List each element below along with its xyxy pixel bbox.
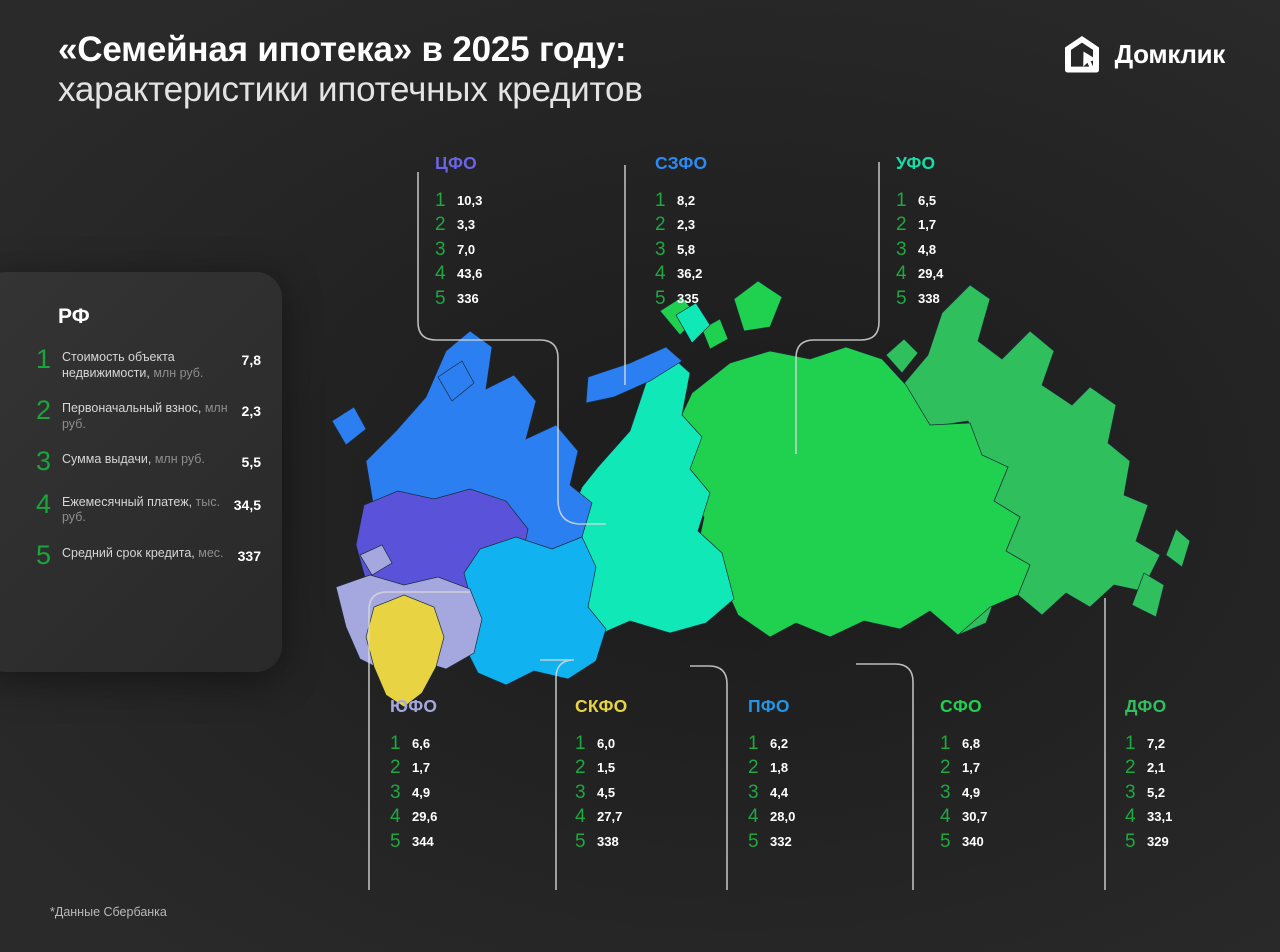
region-name-skfo: СКФО xyxy=(575,696,627,717)
region-metric-value: 29,4 xyxy=(918,266,943,281)
region-metric-value: 4,8 xyxy=(918,242,936,257)
region-metric-number: 2 xyxy=(1125,758,1147,777)
region-metric-number: 5 xyxy=(575,832,597,851)
region-value-row: 427,7 xyxy=(575,805,627,830)
rf-metric-unit: млн руб. xyxy=(153,366,203,380)
region-value-row: 17,2 xyxy=(1125,731,1172,756)
region-metric-value: 4,9 xyxy=(962,785,980,800)
rf-metric-number: 4 xyxy=(36,492,62,518)
region-metric-number: 4 xyxy=(435,264,457,283)
domclick-logo: Домклик xyxy=(1062,34,1225,74)
region-value-row: 35,2 xyxy=(1125,780,1172,805)
region-value-row: 110,3 xyxy=(435,188,482,213)
region-metric-number: 5 xyxy=(940,832,962,851)
region-metric-value: 2,3 xyxy=(677,217,695,232)
region-metric-number: 2 xyxy=(940,758,962,777)
region-value-row: 34,4 xyxy=(748,780,795,805)
region-metric-number: 3 xyxy=(896,240,918,259)
region-metric-value: 338 xyxy=(918,291,940,306)
region-metric-number: 1 xyxy=(575,734,597,753)
region-metric-value: 33,1 xyxy=(1147,809,1172,824)
region-name-pfo: ПФО xyxy=(748,696,795,717)
region-block-ufo: УФО 16,5 21,7 34,8 429,4 5338 xyxy=(896,153,943,311)
region-metric-number: 5 xyxy=(1125,832,1147,851)
region-value-row: 21,5 xyxy=(575,756,627,781)
rf-metric-row: 2 Первоначальный взнос, млн руб. 2,3 xyxy=(36,398,261,432)
region-name-szfo: СЗФО xyxy=(655,153,707,174)
region-metric-number: 3 xyxy=(390,783,412,802)
region-metric-number: 2 xyxy=(435,215,457,234)
region-metric-number: 4 xyxy=(896,264,918,283)
region-value-row: 16,5 xyxy=(896,188,943,213)
rf-metric-row: 1 Стоимость объекта недвижимости, млн ру… xyxy=(36,347,261,381)
russia-federal-districts-map xyxy=(330,255,1280,735)
region-metric-value: 27,7 xyxy=(597,809,622,824)
region-metric-value: 340 xyxy=(962,834,984,849)
region-metric-number: 3 xyxy=(655,240,677,259)
region-value-row: 16,6 xyxy=(390,731,437,756)
title-line-1: «Семейная ипотека» в 2025 году: xyxy=(58,30,878,69)
region-metric-number: 1 xyxy=(940,734,962,753)
region-metric-value: 6,5 xyxy=(918,193,936,208)
region-value-row: 22,3 xyxy=(655,213,707,238)
region-block-dfo: ДФО 17,2 22,1 35,2 433,1 5329 xyxy=(1125,696,1172,854)
region-name-yufo: ЮФО xyxy=(390,696,437,717)
region-value-row: 21,7 xyxy=(896,213,943,238)
region-metric-value: 6,2 xyxy=(770,736,788,751)
region-metric-number: 3 xyxy=(748,783,770,802)
region-metric-value: 30,7 xyxy=(962,809,987,824)
region-value-row: 21,7 xyxy=(940,756,987,781)
region-value-row: 16,2 xyxy=(748,731,795,756)
region-metric-number: 4 xyxy=(655,264,677,283)
region-metric-value: 335 xyxy=(677,291,699,306)
region-value-row: 16,8 xyxy=(940,731,987,756)
rf-metric-row: 3 Сумма выдачи, млн руб. 5,5 xyxy=(36,449,261,475)
region-value-row: 21,7 xyxy=(390,756,437,781)
region-value-row: 443,6 xyxy=(435,262,482,287)
region-metric-value: 29,6 xyxy=(412,809,437,824)
rf-metric-value: 2,3 xyxy=(242,401,261,419)
region-metric-number: 5 xyxy=(390,832,412,851)
region-metric-number: 1 xyxy=(390,734,412,753)
region-metric-number: 3 xyxy=(435,240,457,259)
rf-metric-label: Средний срок кредита, xyxy=(62,546,195,560)
region-metric-number: 3 xyxy=(575,783,597,802)
title-line-2: характеристики ипотечных кредитов xyxy=(58,69,878,110)
region-metric-value: 344 xyxy=(412,834,434,849)
region-metric-number: 2 xyxy=(655,215,677,234)
region-value-row: 428,0 xyxy=(748,805,795,830)
region-metric-number: 5 xyxy=(435,289,457,308)
region-value-row: 34,5 xyxy=(575,780,627,805)
logo-wordmark: Домклик xyxy=(1115,39,1225,70)
region-metric-number: 2 xyxy=(390,758,412,777)
region-metric-value: 338 xyxy=(597,834,619,849)
rf-metric-value: 7,8 xyxy=(242,350,261,368)
region-value-row: 34,9 xyxy=(940,780,987,805)
region-metric-number: 4 xyxy=(940,807,962,826)
region-value-row: 21,8 xyxy=(748,756,795,781)
region-metric-value: 336 xyxy=(457,291,479,306)
region-name-sfo: СФО xyxy=(940,696,987,717)
region-metric-number: 2 xyxy=(748,758,770,777)
region-metric-number: 1 xyxy=(896,191,918,210)
region-metric-number: 4 xyxy=(390,807,412,826)
map-region-pfo xyxy=(462,537,606,685)
rf-metric-number: 5 xyxy=(36,543,62,569)
region-value-row: 37,0 xyxy=(435,237,482,262)
region-value-row: 5344 xyxy=(390,829,437,854)
rf-metric-label: Первоначальный взнос, xyxy=(62,401,201,415)
region-value-row: 34,9 xyxy=(390,780,437,805)
rf-metric-list: 1 Стоимость объекта недвижимости, млн ру… xyxy=(36,347,261,585)
rf-metric-row: 4 Ежемесячный платеж, тыс. руб. 34,5 xyxy=(36,492,261,526)
region-name-ufo: УФО xyxy=(896,153,943,174)
region-metric-number: 3 xyxy=(940,783,962,802)
region-metric-number: 2 xyxy=(575,758,597,777)
region-metric-value: 1,7 xyxy=(918,217,936,232)
region-metric-value: 1,8 xyxy=(770,760,788,775)
region-metric-value: 7,0 xyxy=(457,242,475,257)
house-cursor-icon xyxy=(1062,34,1102,74)
region-metric-value: 3,3 xyxy=(457,217,475,232)
region-value-row: 436,2 xyxy=(655,262,707,287)
rf-metric-unit: мес. xyxy=(198,546,223,560)
page-title: «Семейная ипотека» в 2025 году: характер… xyxy=(58,30,878,110)
region-value-row: 430,7 xyxy=(940,805,987,830)
region-metric-value: 10,3 xyxy=(457,193,482,208)
region-block-sfo: СФО 16,8 21,7 34,9 430,7 5340 xyxy=(940,696,987,854)
region-metric-number: 1 xyxy=(1125,734,1147,753)
region-value-row: 429,4 xyxy=(896,262,943,287)
region-value-row: 5332 xyxy=(748,829,795,854)
region-block-cfo: ЦФО 110,3 23,3 37,0 443,6 5336 xyxy=(435,153,482,311)
region-metric-value: 43,6 xyxy=(457,266,482,281)
rf-metric-number: 1 xyxy=(36,347,62,373)
region-metric-value: 5,2 xyxy=(1147,785,1165,800)
map-region-skfo xyxy=(366,595,444,707)
region-value-row: 35,8 xyxy=(655,237,707,262)
region-metric-number: 5 xyxy=(748,832,770,851)
region-value-row: 5336 xyxy=(435,286,482,311)
region-value-row: 5340 xyxy=(940,829,987,854)
region-metric-value: 1,7 xyxy=(412,760,430,775)
region-block-szfo: СЗФО 18,2 22,3 35,8 436,2 5335 xyxy=(655,153,707,311)
rf-metric-unit: млн руб. xyxy=(155,452,205,466)
region-metric-number: 5 xyxy=(655,289,677,308)
region-metric-value: 7,2 xyxy=(1147,736,1165,751)
rf-metric-value: 34,5 xyxy=(234,495,261,513)
region-value-row: 5335 xyxy=(655,286,707,311)
region-value-row: 34,8 xyxy=(896,237,943,262)
rf-card-title: РФ xyxy=(58,305,90,329)
region-name-cfo: ЦФО xyxy=(435,153,482,174)
region-metric-number: 2 xyxy=(896,215,918,234)
region-value-row: 23,3 xyxy=(435,213,482,238)
region-value-row: 18,2 xyxy=(655,188,707,213)
region-value-row: 433,1 xyxy=(1125,805,1172,830)
rf-summary-card: РФ 1 Стоимость объекта недвижимости, млн… xyxy=(0,272,282,672)
rf-metric-number: 3 xyxy=(36,449,62,475)
region-value-row: 429,6 xyxy=(390,805,437,830)
rf-metric-value: 5,5 xyxy=(242,452,261,470)
rf-metric-label: Сумма выдачи, xyxy=(62,452,151,466)
region-metric-number: 4 xyxy=(575,807,597,826)
infographic-root: «Семейная ипотека» в 2025 году: характер… xyxy=(0,0,1280,952)
region-metric-number: 4 xyxy=(1125,807,1147,826)
region-metric-value: 8,2 xyxy=(677,193,695,208)
region-block-pfo: ПФО 16,2 21,8 34,4 428,0 5332 xyxy=(748,696,795,854)
region-block-yufo: ЮФО 16,6 21,7 34,9 429,6 5344 xyxy=(390,696,437,854)
rf-metric-label: Ежемесячный платеж, xyxy=(62,495,192,509)
rf-metric-number: 2 xyxy=(36,398,62,424)
region-metric-value: 4,4 xyxy=(770,785,788,800)
region-metric-value: 332 xyxy=(770,834,792,849)
region-metric-value: 329 xyxy=(1147,834,1169,849)
region-metric-number: 5 xyxy=(896,289,918,308)
region-metric-number: 1 xyxy=(748,734,770,753)
region-metric-number: 3 xyxy=(1125,783,1147,802)
region-name-dfo: ДФО xyxy=(1125,696,1172,717)
region-metric-value: 1,5 xyxy=(597,760,615,775)
region-metric-value: 6,8 xyxy=(962,736,980,751)
region-metric-number: 4 xyxy=(748,807,770,826)
rf-metric-row: 5 Средний срок кредита, мес. 337 xyxy=(36,543,261,569)
region-metric-number: 1 xyxy=(655,191,677,210)
region-value-row: 5338 xyxy=(575,829,627,854)
region-block-skfo: СКФО 16,0 21,5 34,5 427,7 5338 xyxy=(575,696,627,854)
region-metric-value: 4,9 xyxy=(412,785,430,800)
region-metric-value: 6,0 xyxy=(597,736,615,751)
region-metric-value: 4,5 xyxy=(597,785,615,800)
region-metric-value: 28,0 xyxy=(770,809,795,824)
region-value-row: 22,1 xyxy=(1125,756,1172,781)
region-metric-number: 1 xyxy=(435,191,457,210)
region-metric-value: 6,6 xyxy=(412,736,430,751)
region-metric-value: 1,7 xyxy=(962,760,980,775)
region-value-row: 5338 xyxy=(896,286,943,311)
region-metric-value: 2,1 xyxy=(1147,760,1165,775)
region-value-row: 5329 xyxy=(1125,829,1172,854)
region-metric-value: 5,8 xyxy=(677,242,695,257)
source-footnote: *Данные Сбербанка xyxy=(50,905,167,919)
region-metric-value: 36,2 xyxy=(677,266,702,281)
rf-metric-value: 337 xyxy=(238,546,261,564)
region-value-row: 16,0 xyxy=(575,731,627,756)
